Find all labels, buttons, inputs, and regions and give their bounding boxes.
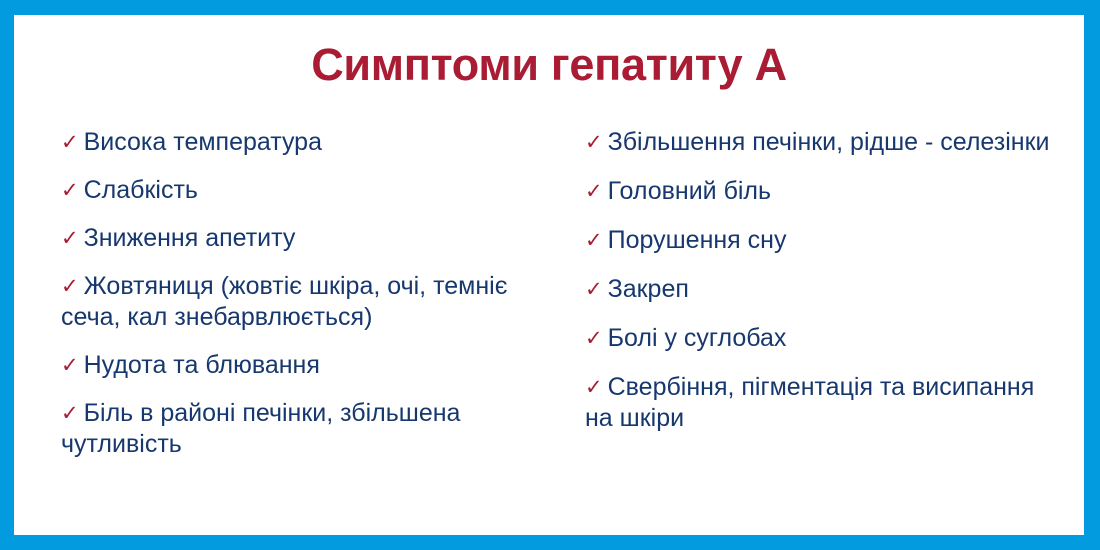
check-icon: ✓: [61, 402, 79, 425]
list-item: ✓Біль в районі печінки, збільшена чутлив…: [61, 398, 550, 460]
check-icon: ✓: [61, 179, 79, 202]
list-item: ✓Порушення сну: [585, 225, 1064, 256]
hepatitis-a-symptoms-poster: Симптоми гепатиту А ✓Висока температура …: [0, 0, 1100, 550]
check-icon: ✓: [585, 131, 603, 154]
list-item: ✓Висока температура: [61, 127, 550, 158]
list-item-label: Порушення сну: [608, 226, 787, 254]
list-item-label: Збільшення печінки, рідше - селезінки: [608, 128, 1050, 156]
check-icon: ✓: [585, 229, 603, 252]
list-item: ✓Головний біль: [585, 176, 1064, 207]
list-item-label: Свербіння, пігментація та висипання на ш…: [585, 373, 1034, 432]
list-item-label: Закреп: [608, 275, 689, 303]
list-item-label: Біль в районі печінки, збільшена чутливі…: [61, 399, 460, 458]
list-item-label: Болі у суглобах: [608, 324, 787, 352]
check-icon: ✓: [585, 376, 603, 399]
page-title: Симптоми гепатиту А: [14, 42, 1084, 87]
check-icon: ✓: [61, 131, 79, 154]
check-icon: ✓: [585, 278, 603, 301]
check-icon: ✓: [61, 354, 79, 377]
list-item-label: Висока температура: [84, 128, 322, 156]
check-icon: ✓: [61, 227, 79, 250]
check-icon: ✓: [61, 275, 79, 298]
check-icon: ✓: [585, 180, 603, 203]
list-item: ✓Болі у суглобах: [585, 323, 1064, 354]
list-item: ✓Зниження апетиту: [61, 223, 550, 254]
list-item: ✓Нудота та блювання: [61, 350, 550, 381]
list-item-label: Зниження апетиту: [84, 224, 296, 252]
symptoms-column-left: ✓Висока температура ✓Слабкість ✓Зниження…: [14, 127, 554, 477]
list-item-label: Жовтяниця (жовтіє шкіра, очі, темніє сеч…: [61, 272, 507, 331]
list-item: ✓Закреп: [585, 274, 1064, 305]
list-item: ✓Свербіння, пігментація та висипання на …: [585, 372, 1064, 434]
poster-inner-panel: Симптоми гепатиту А ✓Висока температура …: [14, 15, 1084, 535]
list-item: ✓Збільшення печінки, рідше - селезінки: [585, 127, 1064, 158]
list-item-label: Слабкість: [84, 176, 198, 204]
check-icon: ✓: [585, 327, 603, 350]
list-item-label: Нудота та блювання: [84, 351, 320, 379]
symptoms-columns: ✓Висока температура ✓Слабкість ✓Зниження…: [14, 127, 1084, 477]
list-item: ✓Жовтяниця (жовтіє шкіра, очі, темніє се…: [61, 271, 550, 333]
symptoms-column-right: ✓Збільшення печінки, рідше - селезінки ✓…: [554, 127, 1074, 452]
list-item: ✓Слабкість: [61, 175, 550, 206]
list-item-label: Головний біль: [608, 177, 771, 205]
